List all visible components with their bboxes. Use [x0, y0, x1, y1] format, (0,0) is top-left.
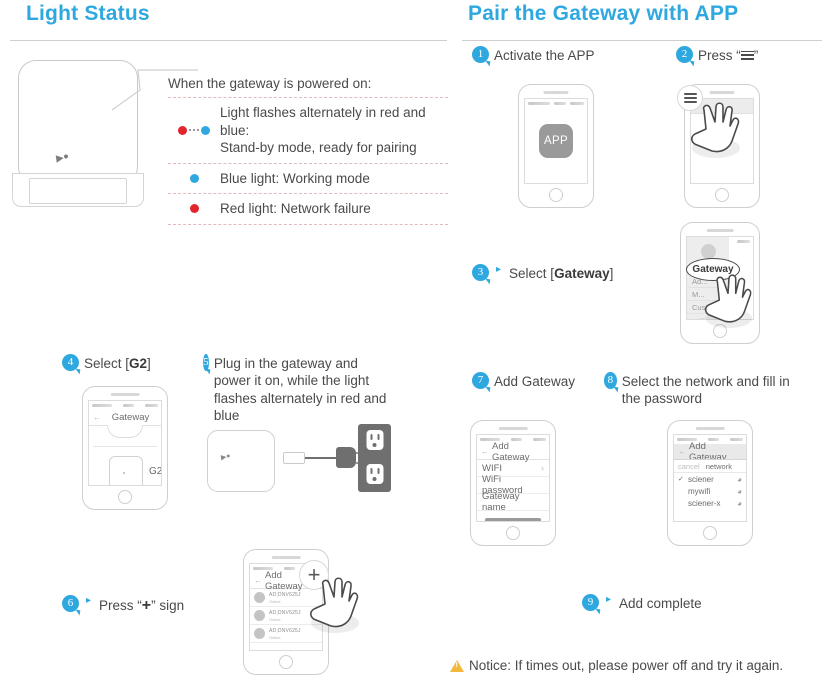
phone-screen: ← Add Gateway WIFI › WiFi password cance… — [673, 434, 747, 522]
step-1-label: Activate the APP — [494, 46, 595, 64]
wifi-signal-icon: ◕ — [737, 499, 742, 508]
step-2-label: Press “ ” — [698, 46, 758, 64]
step-2-suffix: ” — [754, 48, 759, 63]
hamburger-icon — [741, 49, 754, 62]
step-8-label: Select the network and fill in the passw… — [622, 372, 810, 408]
back-arrow-icon[interactable]: ← — [254, 576, 262, 585]
gateway-thumb[interactable] — [109, 456, 143, 486]
phone-speaker — [707, 229, 734, 232]
step-6-label: Press “+” sign — [99, 595, 184, 616]
wifi-name: sciener — [688, 475, 734, 484]
section-title-light-status: Light Status — [26, 2, 150, 26]
gateway-brand-icon: ▸• — [220, 451, 231, 463]
wifi-name: mywifi — [688, 487, 734, 496]
phone-home-button[interactable] — [118, 490, 132, 504]
step-2-prefix: Press “ — [698, 48, 741, 63]
step-3-bold: Gateway — [554, 266, 610, 281]
gateway-brand-icon: ▸• — [55, 149, 70, 166]
step-badge-9: 9 — [582, 594, 599, 611]
legend-working-text: Blue light: Working mode — [220, 170, 370, 188]
cancel-button[interactable]: cancel — [678, 462, 700, 471]
step-badge-6: 6 — [62, 595, 79, 612]
phone-speaker — [499, 427, 528, 430]
step-badge-8: 8 — [604, 372, 617, 389]
phone-mock-g2-select: ← Gateway G2 — [82, 386, 168, 510]
sheet-header: cancel network — [674, 460, 746, 473]
step-badge-3: 3 — [472, 264, 489, 281]
device-name: AD;DNV625J — [269, 610, 301, 616]
legend-failure-text: Red light: Network failure — [220, 200, 371, 218]
phone-speaker — [696, 427, 725, 430]
outlet-socket-top — [366, 430, 383, 450]
tab-indicator — [107, 425, 143, 438]
sheet-title: network — [706, 462, 732, 471]
step-5-label: Plug in the gateway and power it on, whi… — [214, 354, 388, 424]
legend-row-standby: Light flashes alternately in red and blu… — [168, 97, 448, 163]
step-4-label: Select [G2] — [84, 354, 151, 372]
blue-dot-icon — [201, 126, 210, 135]
red-dot-icon — [190, 204, 199, 213]
phone-speaker — [709, 91, 734, 94]
screen-title: Add Gateway — [492, 441, 545, 463]
step-9-label: Add complete — [619, 594, 702, 612]
step-4-suffix: ] — [147, 356, 151, 371]
notice-bar: Notice: If times out, please power off a… — [450, 658, 783, 673]
wifi-signal-icon: ◕ — [737, 475, 742, 484]
app-bar: ← Gateway — [89, 410, 161, 426]
wall-outlet — [358, 424, 391, 492]
gateway-thumb-led — [123, 472, 125, 474]
app-bar: ← Add Gateway — [674, 444, 746, 460]
notice-text: Notice: If times out, please power off a… — [469, 658, 783, 673]
step-3: 3 ▸ Select [Gateway] — [472, 264, 613, 282]
step-2: 2 Press “ ” — [676, 46, 758, 64]
light-status-legend: When the gateway is powered on: Light fl… — [168, 76, 448, 225]
outlet-socket-bottom — [366, 464, 383, 484]
step-6-bold: + — [142, 597, 151, 614]
app-icon[interactable]: APP — [539, 124, 573, 158]
phone-screen: APP — [524, 98, 588, 184]
step-6-prefix: Press “ — [99, 598, 142, 613]
phone-speaker — [543, 91, 568, 94]
divider — [93, 446, 157, 447]
wifi-network-row[interactable]: sciener-x ◕ — [674, 497, 746, 509]
form-label-gateway-name: Gateway name — [482, 491, 544, 513]
screen-title: Gateway — [112, 412, 150, 423]
device-status: Online — [269, 617, 301, 622]
avatar — [701, 244, 716, 259]
phone-home-button[interactable] — [506, 526, 520, 540]
step-badge-1: 1 — [472, 46, 489, 63]
device-avatar-icon — [254, 628, 265, 639]
step-3-label: Select [Gateway] — [509, 264, 613, 282]
legend-row-working: Blue light: Working mode — [168, 163, 448, 194]
warning-triangle-icon — [450, 660, 464, 672]
step-3-prefix: Select [ — [509, 266, 554, 281]
step-arrow-icon: ▸ — [86, 595, 91, 608]
phone-speaker — [111, 393, 140, 396]
wifi-signal-icon: ◕ — [737, 487, 742, 496]
device-label-g2: G2 — [149, 466, 162, 477]
step-7-label: Add Gateway — [494, 372, 575, 390]
hand-pointer-icon — [700, 272, 756, 332]
blue-dot-icon — [190, 174, 199, 183]
chevron-right-icon: › — [541, 463, 544, 473]
indicator-blue — [168, 174, 220, 183]
phone-mock-add-gateway-form: ← Add Gateway WIFI › WiFi password Gatew… — [470, 420, 556, 546]
status-bar — [89, 401, 161, 410]
step-8: 8 Select the network and fill in the pas… — [604, 372, 810, 408]
legend-standby-line2: Stand-by mode, ready for pairing — [220, 139, 448, 157]
back-arrow-icon[interactable]: ← — [93, 413, 101, 422]
section-divider-right — [462, 40, 822, 41]
wifi-network-row[interactable]: ✓ sciener ◕ — [674, 473, 746, 485]
step-1: 1 Activate the APP — [472, 46, 595, 64]
step-7: 7 Add Gateway — [472, 372, 575, 390]
device-avatar-icon — [254, 592, 265, 603]
device-status: Online — [269, 599, 301, 604]
phone-screen: ← Add Gateway WIFI › WiFi password Gatew… — [476, 434, 550, 522]
step-badge-4: 4 — [62, 354, 79, 371]
step-6: 6 ▸ Press “+” sign — [62, 595, 184, 616]
usb-cable — [305, 457, 338, 459]
step-badge-5: 5 — [203, 354, 209, 371]
legend-standby-line1: Light flashes alternately in red and blu… — [220, 104, 448, 139]
phone-home-button[interactable] — [279, 655, 293, 669]
indicator-red-blue — [168, 126, 220, 135]
device-avatar-icon — [254, 610, 265, 621]
form-row-gateway-name[interactable]: Gateway name — [477, 494, 549, 511]
phone-screen: ← Gateway G2 — [88, 400, 162, 486]
device-name: AD;DNV625J — [269, 628, 301, 634]
gateway-base-inset — [29, 178, 127, 204]
phone-home-button[interactable] — [549, 188, 563, 202]
check-icon: ✓ — [678, 475, 685, 483]
step-5: 5 Plug in the gateway and power it on, w… — [203, 354, 388, 424]
status-bar — [525, 99, 587, 108]
hand-pointer-icon — [305, 575, 363, 637]
step-9: 9 ▸ Add complete — [582, 594, 702, 612]
wifi-network-row[interactable]: mywifi ◕ — [674, 485, 746, 497]
legend-intro: When the gateway is powered on: — [168, 76, 448, 91]
step-6-suffix: ” sign — [151, 598, 184, 613]
red-dot-icon — [178, 126, 187, 135]
wifi-name: sciener-x — [688, 499, 734, 508]
step-arrow-icon: ▸ — [606, 594, 611, 607]
step-badge-2: 2 — [676, 46, 693, 63]
step-3-suffix: ] — [610, 266, 614, 281]
section-divider-left — [10, 40, 447, 41]
step-arrow-icon: ▸ — [496, 264, 501, 277]
device-status: Online — [269, 635, 301, 640]
phone-home-button[interactable] — [703, 526, 717, 540]
dot-connector — [189, 129, 199, 131]
device-name: AD;DNV625J — [269, 592, 301, 598]
phone-speaker — [272, 556, 301, 559]
phone-home-button[interactable] — [715, 188, 729, 202]
network-picker-sheet: cancel network ✓ sciener ◕ mywifi ◕ scie… — [674, 459, 746, 521]
phone-mock-app-splash: APP — [518, 84, 594, 208]
legend-row-failure: Red light: Network failure — [168, 193, 448, 225]
step-4: 4 Select [G2] — [62, 354, 151, 372]
app-bar: ← Add Gateway — [477, 444, 549, 460]
ac-adapter — [336, 447, 356, 468]
indicator-red — [168, 204, 220, 213]
step-4-prefix: Select [ — [84, 356, 129, 371]
step-4-bold: G2 — [129, 356, 147, 371]
step-badge-7: 7 — [472, 372, 489, 389]
form-label-wifi: WIFI — [482, 463, 502, 474]
manual-page: Light Status ▸• When the gateway is powe… — [0, 0, 829, 682]
back-arrow-icon[interactable]: ← — [481, 447, 489, 456]
phone-mock-wifi-picker: ← Add Gateway WIFI › WiFi password cance… — [667, 420, 753, 546]
back-arrow-icon[interactable]: ← — [678, 447, 686, 456]
hand-pointer-icon — [686, 100, 744, 162]
next-button[interactable]: Next — [485, 518, 541, 522]
gateway-device-small — [207, 430, 275, 492]
usb-connector — [283, 452, 305, 464]
section-title-pair-gateway: Pair the Gateway with APP — [468, 2, 738, 26]
